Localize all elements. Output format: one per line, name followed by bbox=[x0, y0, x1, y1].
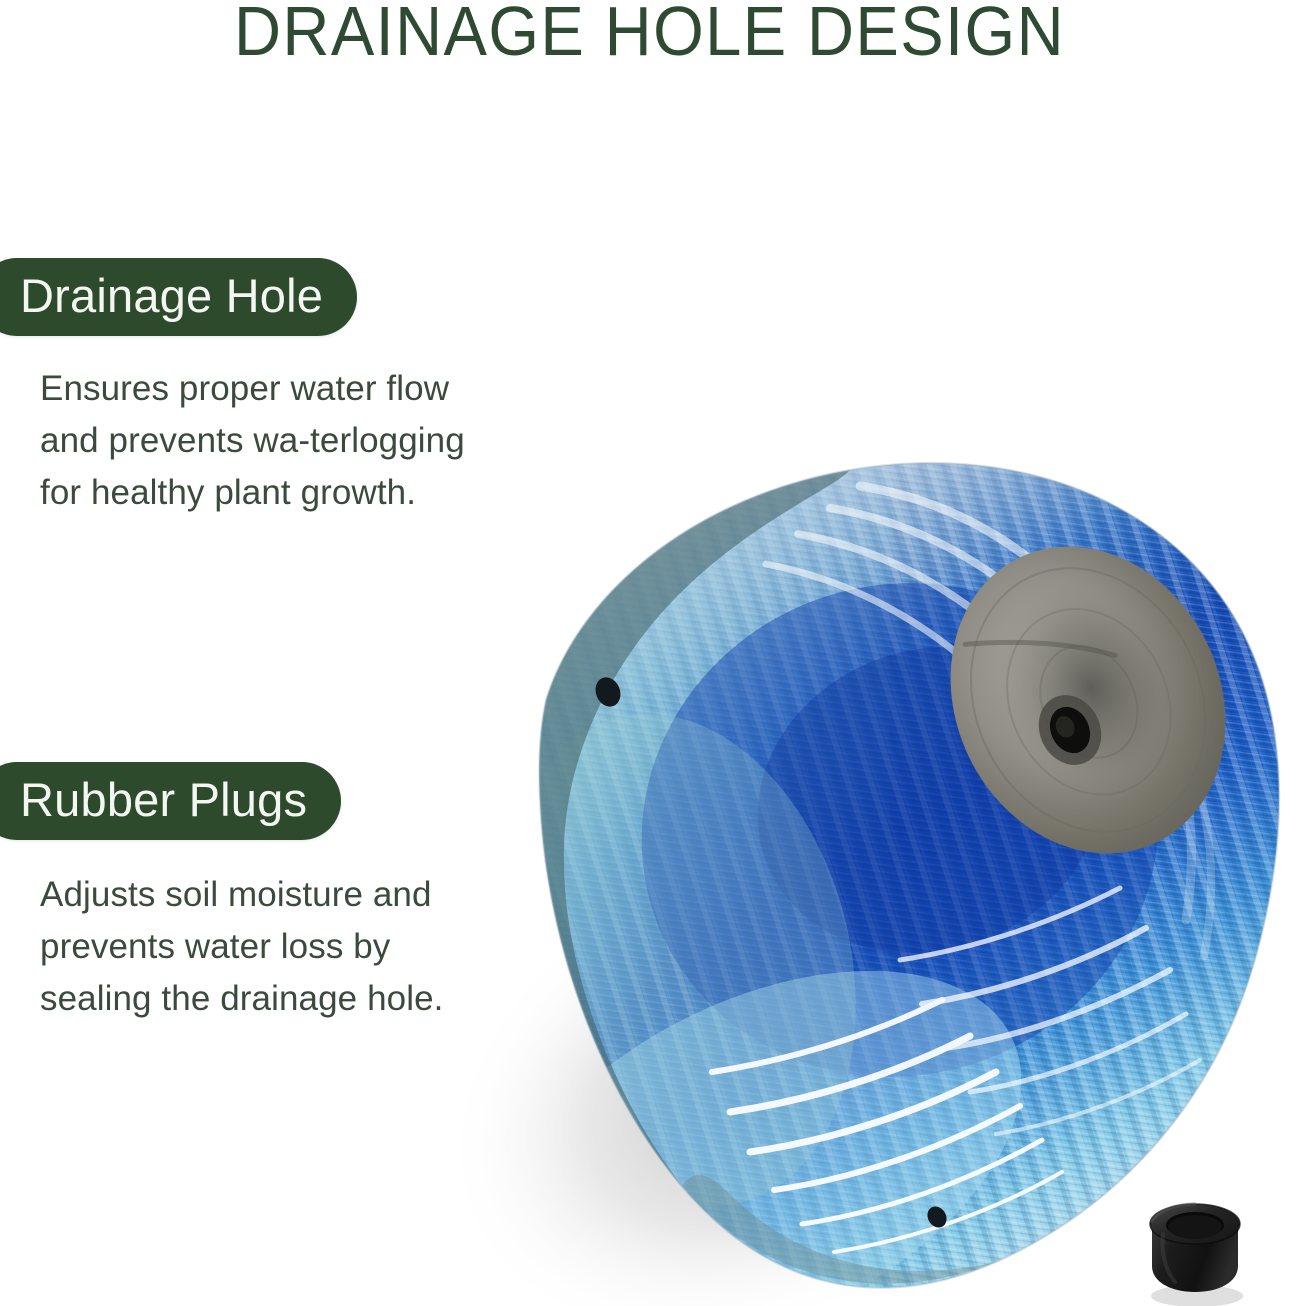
infographic-page: DRAINAGE HOLE DESIGN Drainage Hole Ensur… bbox=[0, 0, 1299, 1306]
feature-body-rubber-plugs: Adjusts soil moisture and prevents water… bbox=[40, 869, 470, 1025]
feature-body-drainage-hole: Ensures proper water flow and prevents w… bbox=[40, 363, 470, 519]
page-title: DRAINAGE HOLE DESIGN bbox=[45, 0, 1253, 66]
feature-badge-drainage-hole: Drainage Hole bbox=[0, 258, 357, 336]
feature-badge-label: Rubber Plugs bbox=[20, 776, 307, 823]
rubber-plug bbox=[1150, 1204, 1243, 1306]
product-image bbox=[430, 400, 1299, 1306]
feature-badge-label: Drainage Hole bbox=[20, 272, 323, 319]
feature-badge-rubber-plugs: Rubber Plugs bbox=[0, 762, 341, 840]
